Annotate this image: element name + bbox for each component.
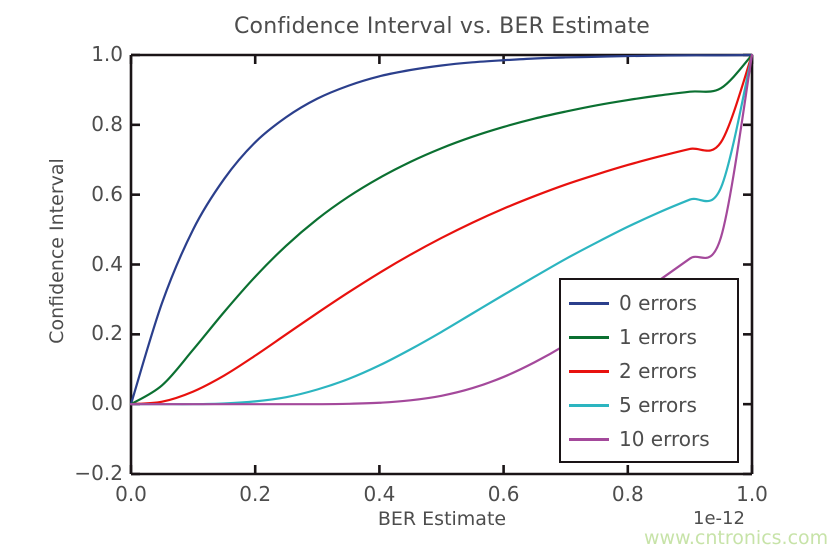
legend-item-label: 2 errors (619, 359, 697, 383)
legend-color-swatch (569, 438, 609, 441)
legend-item[interactable]: 2 errors (569, 354, 697, 388)
legend-color-swatch (569, 370, 609, 373)
legend-item[interactable]: 0 errors (569, 286, 697, 320)
legend-item-label: 0 errors (619, 291, 697, 315)
legend-color-swatch (569, 302, 609, 305)
watermark: www.cntronics.com (644, 527, 828, 549)
legend[interactable]: 0 errors1 errors2 errors5 errors10 error… (559, 278, 739, 463)
legend-item[interactable]: 1 errors (569, 320, 697, 354)
chart-figure: Confidence Interval vs. BER Estimate Con… (0, 0, 835, 556)
legend-item-label: 5 errors (619, 393, 697, 417)
legend-item-label: 10 errors (619, 427, 710, 451)
legend-color-swatch (569, 336, 609, 339)
legend-item[interactable]: 5 errors (569, 388, 697, 422)
legend-color-swatch (569, 404, 609, 407)
legend-item[interactable]: 10 errors (569, 422, 710, 456)
legend-item-label: 1 errors (619, 325, 697, 349)
